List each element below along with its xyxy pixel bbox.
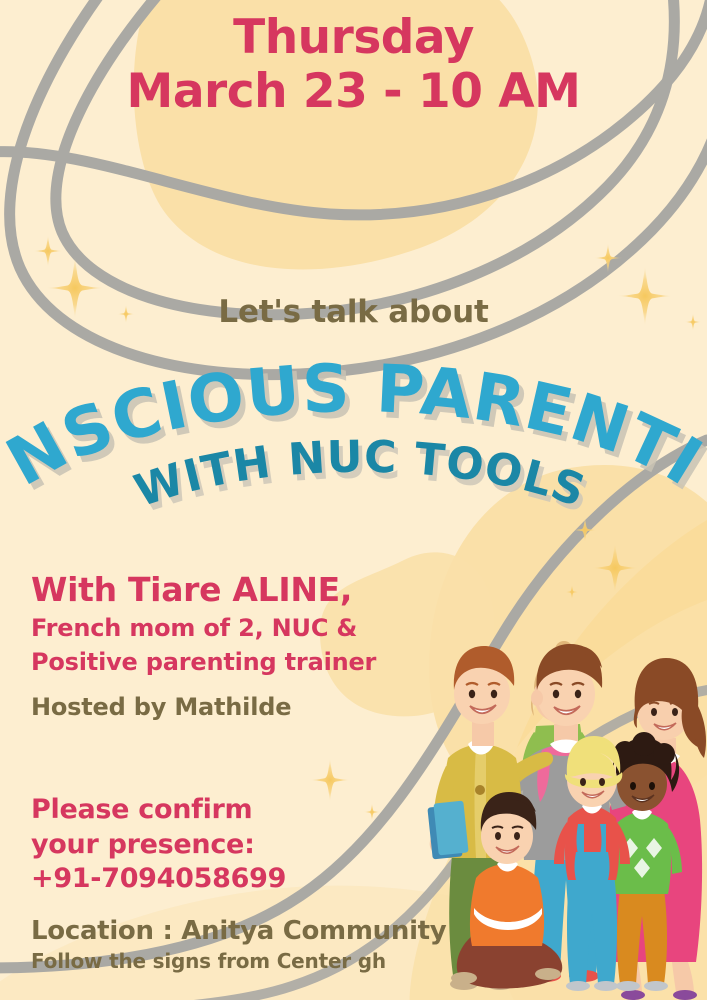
presenter-role-line1: French mom of 2, NUC & [31,613,461,643]
confirm-line-2: your presence: [31,828,361,863]
date-block: Thursday March 23 - 10 AM [0,14,707,116]
confirm-phone-number[interactable]: +91-7094058699 [31,862,361,897]
headline-arch: CONSCIOUS PARENTING CONSCIOUS PARENTING … [0,330,707,520]
presenter-role-line2: Positive parenting trainer [31,647,461,677]
presenter-name: With Tiare ALINE, [31,572,461,609]
date-weekday: Thursday [0,14,707,62]
family-group-illustration [424,606,707,1000]
kicker-text: Let's talk about [0,294,707,330]
confirm-block: Please confirm your presence: +91-709405… [31,793,361,897]
poster-canvas: Thursday March 23 - 10 AM Let's talk abo… [0,0,707,1000]
presenter-block: With Tiare ALINE, French mom of 2, NUC &… [31,572,461,721]
presenter-host: Hosted by Mathilde [31,693,461,721]
confirm-line-1: Please confirm [31,793,361,828]
date-day-time: March 23 - 10 AM [0,68,707,116]
